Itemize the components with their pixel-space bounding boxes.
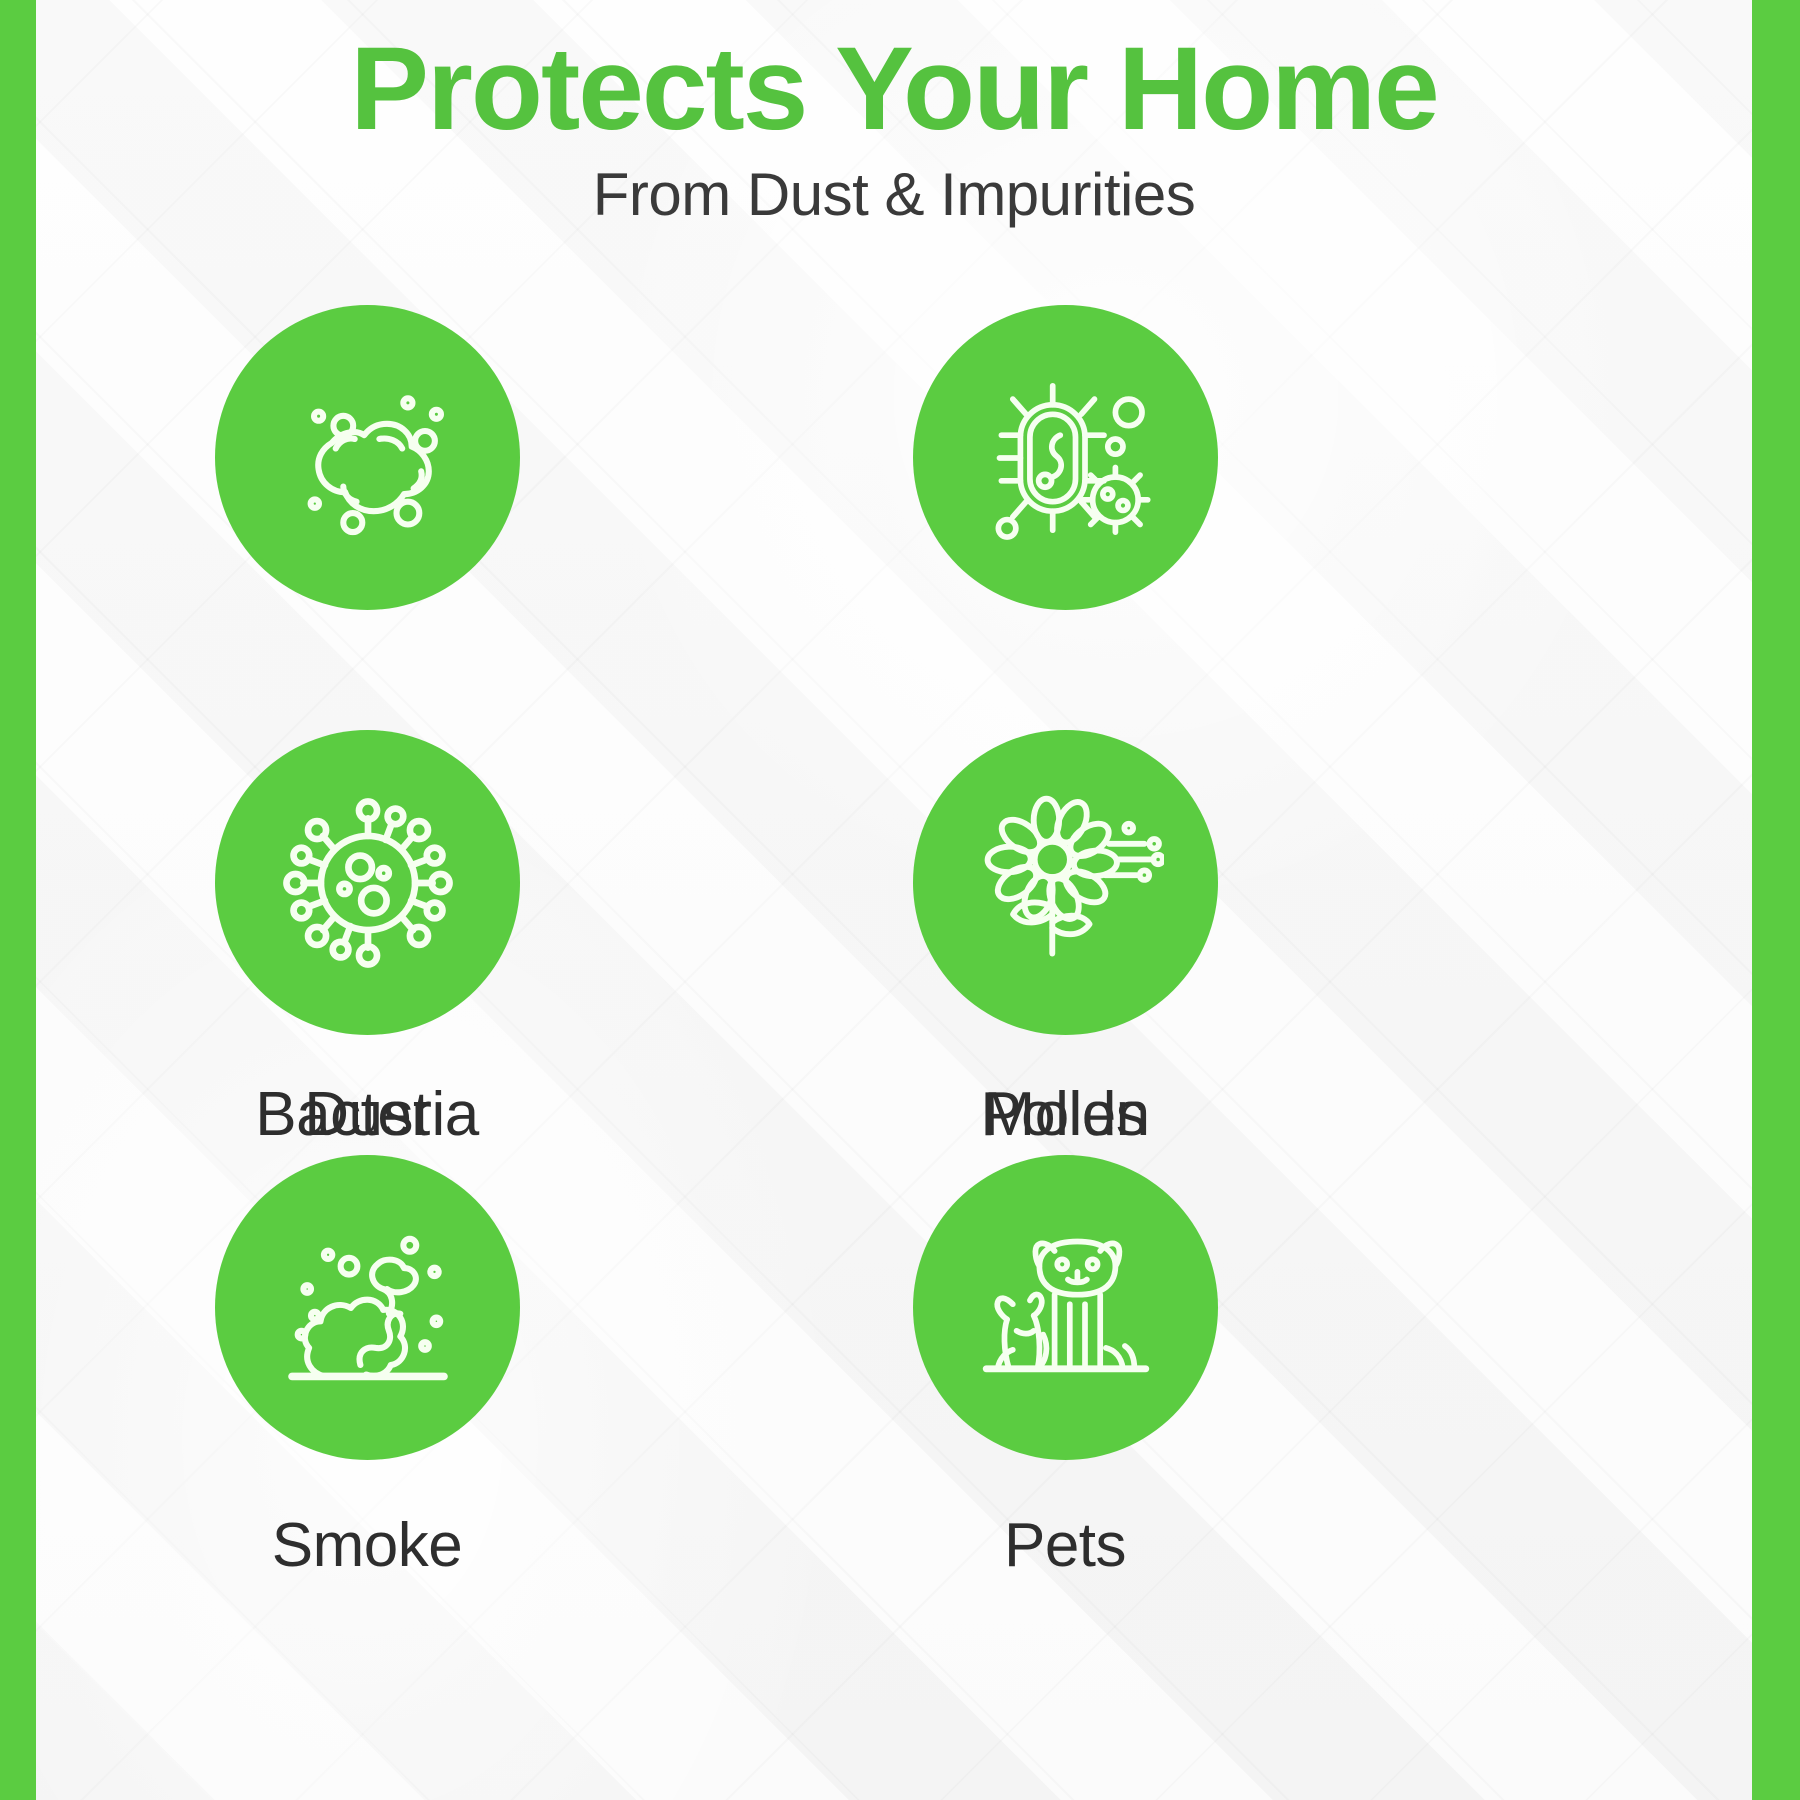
icon-badge-smoke	[215, 1155, 520, 1460]
icon-badge-pollen	[913, 730, 1218, 1035]
page-subtitle: From Dust & Impurities	[36, 162, 1752, 228]
icon-badge-pets	[913, 1155, 1218, 1460]
poster-canvas: Protects Your Home From Dust & Impuritie…	[0, 0, 1800, 1800]
feature-label-pets: Pets	[835, 1515, 1295, 1577]
dust-cloud-icon	[273, 363, 463, 553]
feature-label-pollen: Pollen	[835, 1084, 1295, 1146]
icon-badge-molds	[913, 305, 1218, 610]
header: Protects Your Home From Dust & Impuritie…	[36, 28, 1752, 228]
feature-label-bacteria: Bacteria	[137, 1084, 597, 1146]
virus-icon	[270, 785, 466, 981]
icon-badge-dust	[215, 305, 520, 610]
mold-bacterium-icon	[971, 363, 1161, 553]
smoke-icon	[273, 1213, 463, 1403]
feature-label-smoke: Smoke	[137, 1515, 597, 1577]
feature-grid: Dust	[0, 0, 1800, 1800]
page-title: Protects Your Home	[36, 28, 1752, 152]
flower-pollen-icon	[968, 785, 1164, 981]
icon-badge-bacteria	[215, 730, 520, 1035]
pets-dog-cat-icon	[971, 1213, 1161, 1403]
